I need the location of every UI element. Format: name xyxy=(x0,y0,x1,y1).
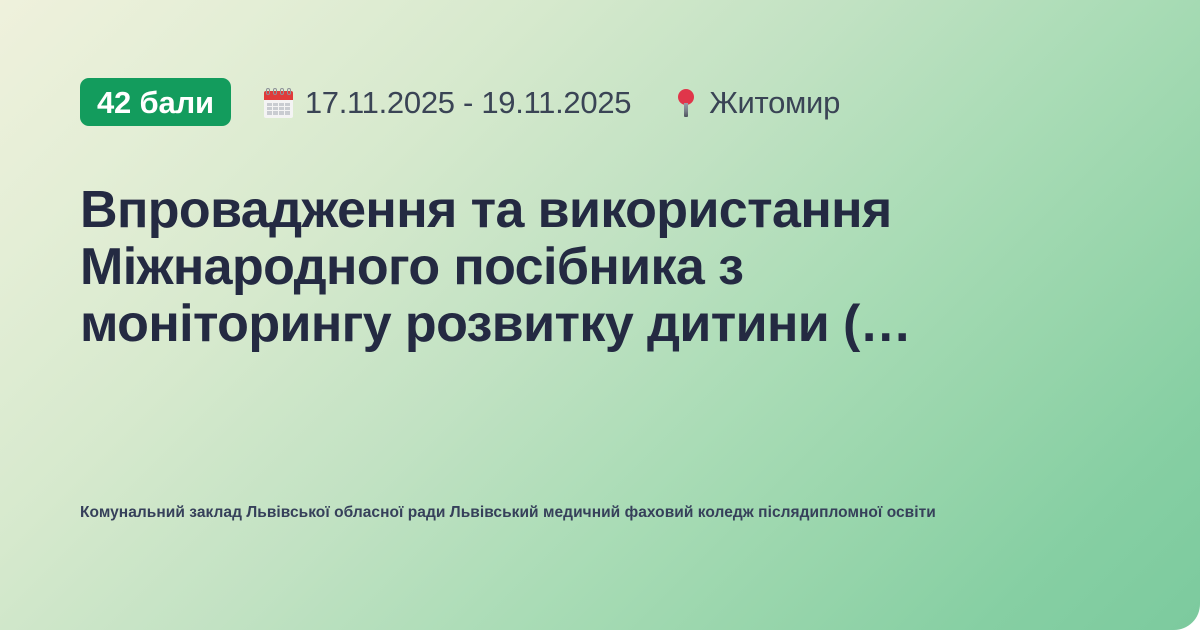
score-badge: 42 бали xyxy=(80,78,231,126)
event-meta-row: 42 бали 17.11.2025 - 19.11.2025 Житомир xyxy=(80,77,840,127)
event-location: Житомир xyxy=(675,86,840,118)
event-title-line: моніторингу розвитку дитини (… xyxy=(80,296,1010,353)
event-title: Впровадження та використання Міжнародног… xyxy=(80,182,1010,353)
event-organizer: Комунальний заклад Львівської обласної р… xyxy=(80,502,980,524)
event-location-text: Житомир xyxy=(709,87,840,118)
event-title-line: Впровадження та використання xyxy=(80,182,1010,239)
event-card: 42 бали 17.11.2025 - 19.11.2025 Житомир … xyxy=(0,0,1200,630)
event-date-text: 17.11.2025 - 19.11.2025 xyxy=(305,87,631,118)
event-title-line: Міжнародного посібника з xyxy=(80,239,1010,296)
event-date: 17.11.2025 - 19.11.2025 xyxy=(263,87,631,118)
pin-icon xyxy=(675,87,697,119)
calendar-icon xyxy=(263,88,294,119)
